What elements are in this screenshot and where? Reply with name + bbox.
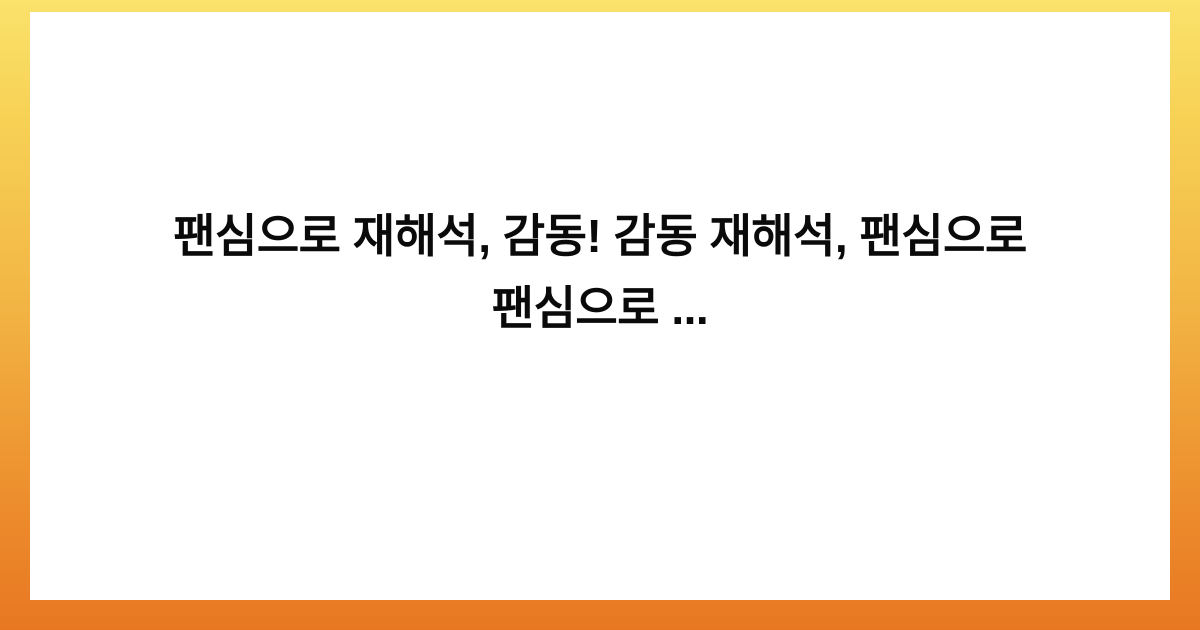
genre-value: Drama xyxy=(550,192,567,198)
page-title: 팬심으로 재해석, 감동! 감동 재해석, 팬심으로 팬심으로 ... xyxy=(110,200,1090,344)
artwork-stripe-12 xyxy=(82,144,158,153)
artwork-stripe-9 xyxy=(82,108,158,117)
media-console xyxy=(362,374,924,524)
score-value: 88% xyxy=(484,192,495,198)
knitted-pouffe xyxy=(1066,510,1162,576)
artwork-stripe-11 xyxy=(82,132,158,141)
console-lip xyxy=(382,522,852,527)
artwork-stripe-7 xyxy=(82,84,158,93)
console-device-c xyxy=(610,420,687,433)
artwork-stripe-8 xyxy=(82,96,158,105)
artwork-stripe-3 xyxy=(82,36,158,45)
artwork-stripe-6 xyxy=(82,72,158,81)
abstract-striped-artwork xyxy=(82,12,158,170)
rating-value: 17+ xyxy=(501,192,510,198)
artwork-stripe-4 xyxy=(82,48,158,57)
artwork-stripe-10 xyxy=(82,120,158,129)
movie-meta-row: 88% 17+ 2 hr 29 min Drama 2014 HD 5.1 xyxy=(474,192,612,198)
console-device-b xyxy=(587,425,598,433)
artwork-stripe-1 xyxy=(82,12,158,21)
console-cubby xyxy=(538,380,752,512)
plant-pot xyxy=(144,478,242,594)
console-device-a xyxy=(561,416,581,433)
audio-badge: 5.1 xyxy=(605,192,613,198)
year-value: 2014 xyxy=(572,192,584,198)
speaker-tower xyxy=(932,449,978,579)
tv-stand-neck xyxy=(536,342,582,370)
artwork-stripe-5 xyxy=(82,60,158,69)
headline-container: 팬심으로 재해석, 감동! 감동 재해석, 팬심으로 팬심으로 ... xyxy=(110,200,1090,344)
artwork-signature: Jo Stephens xyxy=(108,178,155,188)
runtime-value: 2 hr 29 min xyxy=(516,192,544,198)
thumbnail-card: Jo Stephens ( ABSTRACT ) GONE GIRL DIREC… xyxy=(0,0,1200,630)
console-shelf xyxy=(539,440,751,447)
movie-title: GONE GIRL xyxy=(497,162,643,179)
quality-badge: HD xyxy=(591,192,599,198)
score-icon xyxy=(474,193,478,197)
artwork-stripe-13 xyxy=(82,156,158,165)
console-plinth xyxy=(366,522,920,567)
artwork-stripe-2 xyxy=(82,24,158,33)
